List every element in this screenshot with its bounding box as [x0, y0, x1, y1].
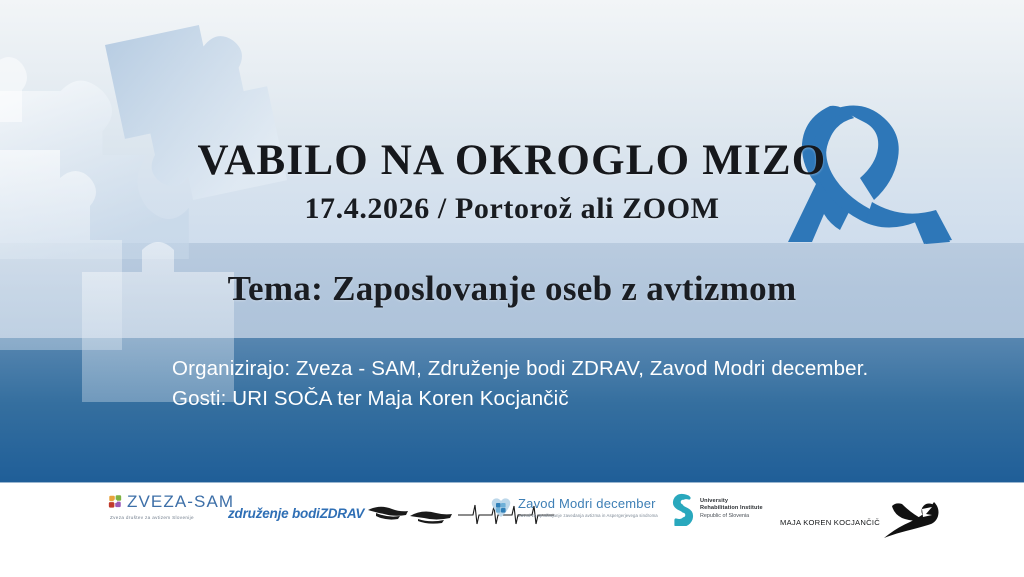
swallow-bird-icon: [882, 498, 946, 546]
event-topic: Tema: Zaposlovanje oseb z avtizmom: [0, 269, 1024, 309]
event-date-location: 17.4.2026 / Portorož ali ZOOM: [0, 192, 1024, 226]
logo-uri-line-1: University: [700, 498, 763, 505]
logo-maja-koren-kocjancic: MAJA KOREN KOCJANČIČ: [780, 498, 946, 546]
blue-puzzle-heart-icon: [488, 494, 514, 520]
logo-zavod-modri-december: Zavod Modri december Zavod za spodbujanj…: [488, 494, 658, 520]
logo-zveza-sam-tagline: Zveza društev za avtizem Slovenije: [110, 515, 194, 520]
logo-zveza-sam-word: ZVEZA-SAM: [127, 492, 234, 512]
page-title: VABILO NA OKROGLO MIZO: [0, 136, 1024, 185]
poster-canvas: VABILO NA OKROGLO MIZO 17.4.2026 / Porto…: [0, 0, 1024, 577]
logo-zdrav-word-1: združenje bodi: [228, 506, 320, 521]
footer-logo-strip: ZVEZA-SAM Zveza društev za avtizem Slove…: [0, 492, 1024, 548]
guests-line: Gosti: URI SOČA ter Maja Koren Kocjančič: [172, 384, 972, 414]
logo-zavod-word: Zavod Modri december: [518, 496, 658, 511]
puzzle-flower-icon: [108, 494, 125, 511]
logo-uri-line-3: Republic of Slovenia: [700, 513, 763, 520]
organizers-block: Organizirajo: Zveza - SAM, Združenje bod…: [172, 354, 972, 414]
logo-uri-soca: University Rehabilitation Institute Repu…: [672, 492, 763, 526]
logo-uri-line-2: Rehabilitation Institute: [700, 505, 763, 512]
logo-zveza-sam: ZVEZA-SAM Zveza društev za avtizem Slove…: [108, 492, 234, 520]
logo-zdrav-word-2: ZDRAV: [320, 506, 365, 521]
logo-maja-name: MAJA KOREN KOCJANČIČ: [780, 518, 880, 527]
uri-s-mark-icon: [672, 492, 694, 526]
logo-zavod-tagline: Zavod za spodbujanje zavedanja avtizma i…: [518, 513, 658, 518]
organizers-line: Organizirajo: Zveza - SAM, Združenje bod…: [172, 354, 972, 384]
